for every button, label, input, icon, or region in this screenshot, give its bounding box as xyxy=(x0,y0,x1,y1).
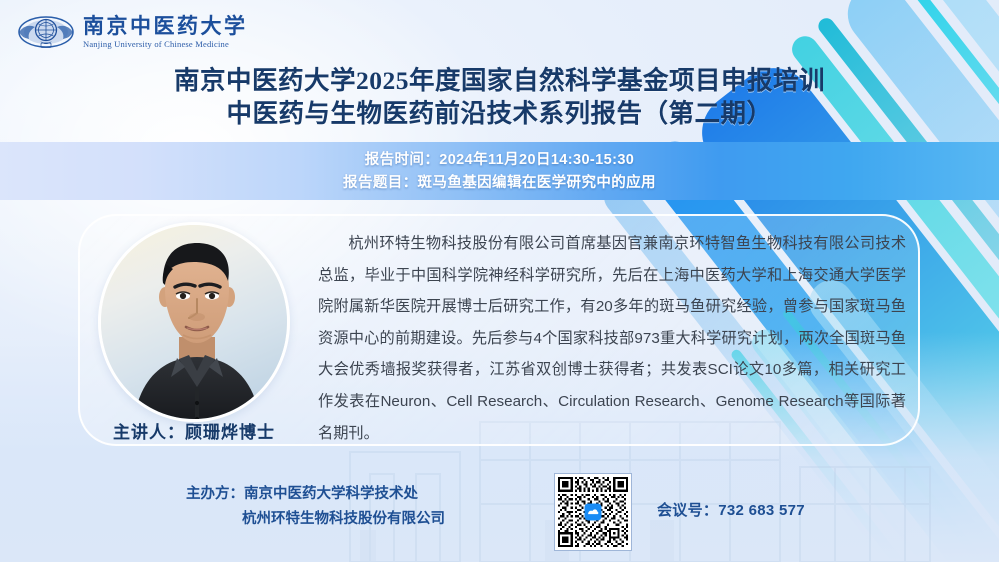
meeting-id: 会议号：732 683 577 xyxy=(657,499,805,520)
meeting-cloud-glyph xyxy=(587,506,600,519)
speaker-photo xyxy=(101,225,290,422)
meeting-qr-code[interactable] xyxy=(554,473,632,551)
qr-code-image xyxy=(558,477,628,547)
logo-name-cn: 南京中医药大学 xyxy=(83,15,248,37)
report-topic: 报告题目：斑马鱼基因编辑在医学研究中的应用 xyxy=(343,173,656,193)
host-organizations: 主办方：南京中医药大学科学技术处 杭州环特生物科技股份有限公司 xyxy=(186,482,445,532)
avatar xyxy=(98,222,290,422)
report-time: 报告时间：2024年11月20日14:30-15:30 xyxy=(365,150,635,170)
logo-name-en: Nanjing University of Chinese Medicine xyxy=(83,39,248,49)
speaker-portrait-frame xyxy=(98,222,290,422)
info-band: 报告时间：2024年11月20日14:30-15:30 报告题目：斑马鱼基因编辑… xyxy=(0,142,999,200)
page-title: 南京中医药大学2025年度国家自然科学基金项目申报培训 中医药与生物医药前沿技术… xyxy=(0,64,999,130)
host-line-1: 主办方：南京中医药大学科学技术处 xyxy=(186,482,445,507)
speaker-name: 主讲人：顾珊烨博士 xyxy=(98,418,290,443)
speaker-bio: 杭州环特生物科技股份有限公司首席基因官兼南京环特智鱼生物科技有限公司技术总监，毕… xyxy=(318,228,906,449)
university-seal-icon xyxy=(18,10,74,54)
poster-root: 南京中医药大学 Nanjing University of Chinese Me… xyxy=(0,0,999,562)
logo-wordmark: 南京中医药大学 Nanjing University of Chinese Me… xyxy=(83,15,248,48)
host-line-2: 杭州环特生物科技股份有限公司 xyxy=(186,507,445,532)
title-line-2: 中医药与生物医药前沿技术系列报告（第二期） xyxy=(0,97,999,130)
university-logo: 南京中医药大学 Nanjing University of Chinese Me… xyxy=(18,10,248,54)
tencent-meeting-logo-icon xyxy=(585,504,602,521)
title-line-1: 南京中医药大学2025年度国家自然科学基金项目申报培训 xyxy=(0,64,999,97)
